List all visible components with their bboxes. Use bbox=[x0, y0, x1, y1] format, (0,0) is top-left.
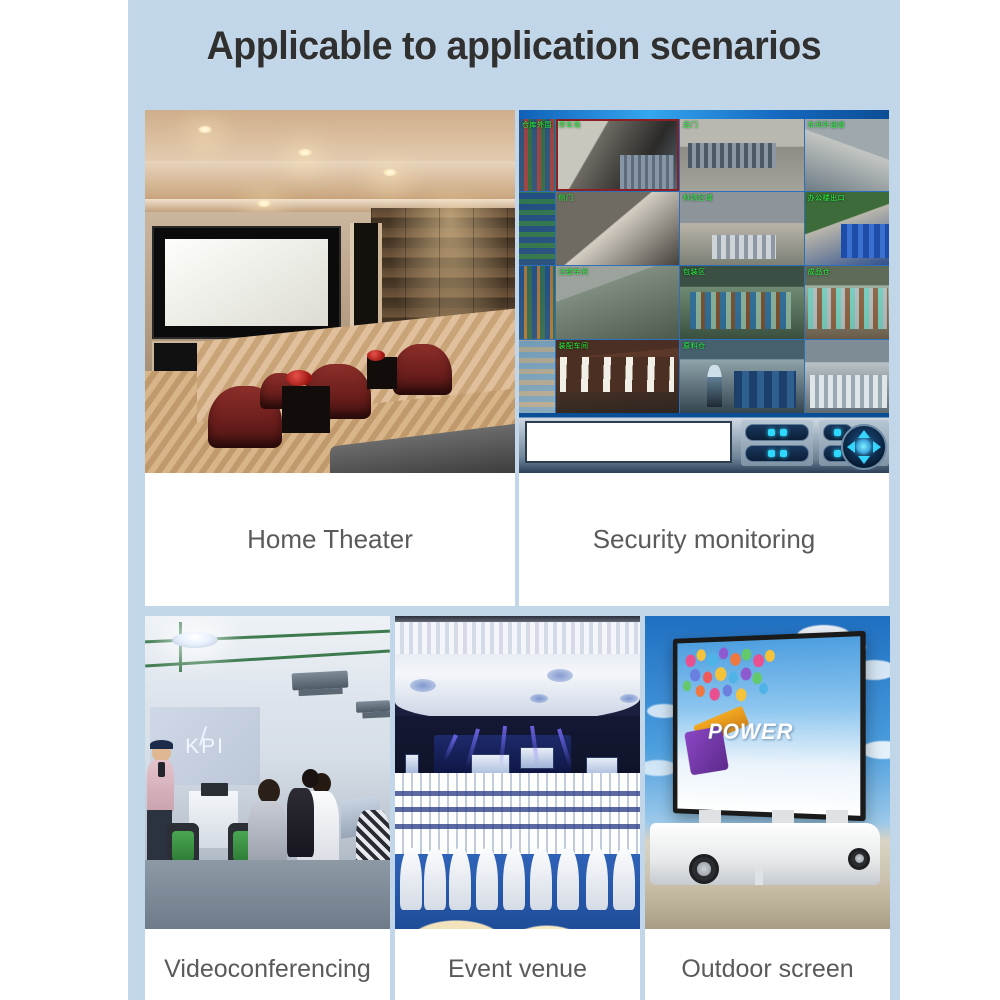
dpad-ok-button[interactable] bbox=[856, 439, 871, 454]
cctv-cell-label: 办公楼出口 bbox=[808, 193, 846, 203]
cctv-cell-label: 车间外通道 bbox=[808, 120, 846, 130]
cctv-cell[interactable] bbox=[805, 340, 889, 413]
dvr-lock-button[interactable] bbox=[745, 445, 809, 462]
cctv-cell[interactable]: 后门 bbox=[680, 119, 804, 192]
cctv-cell[interactable] bbox=[519, 340, 555, 413]
cctv-cell[interactable] bbox=[519, 192, 555, 265]
cctv-cell[interactable]: 办公楼出口 bbox=[805, 192, 889, 265]
trailer-body bbox=[650, 823, 880, 886]
ceiling-projector-icon bbox=[292, 671, 349, 691]
videoconferencing-caption: Videoconferencing bbox=[145, 929, 390, 1000]
slide-text: KPI bbox=[185, 735, 225, 759]
scenario-row-1: Home Theater 仓库外围 停车场 bbox=[145, 110, 890, 606]
event-venue-image bbox=[395, 616, 640, 929]
scenario-card-outdoor-screen[interactable]: POWER Outdoor screen bbox=[645, 616, 890, 1000]
scenario-row-2: KPI bbox=[145, 616, 890, 1000]
outdoor-screen-caption: Outdoor screen bbox=[645, 929, 890, 1000]
screen-text: POWER bbox=[708, 719, 793, 745]
scenario-card-home-theater[interactable]: Home Theater bbox=[145, 110, 515, 606]
cctv-cell[interactable] bbox=[519, 266, 555, 339]
scenario-card-event-venue[interactable]: Event venue bbox=[395, 616, 640, 1000]
cctv-cell-label: 原料仓 bbox=[683, 341, 706, 351]
cctv-cell-label: 注塑车间 bbox=[559, 267, 589, 277]
cctv-cell-label: 料场区域 bbox=[683, 193, 713, 203]
cctv-cell-label: 装配车间 bbox=[559, 341, 589, 351]
cctv-cell-label: 侧门 bbox=[559, 193, 574, 203]
cctv-cell-label: 包装区 bbox=[683, 267, 706, 277]
security-monitoring-image: 仓库外围 停车场 后门 车间外通道 bbox=[519, 110, 889, 473]
home-theater-caption: Home Theater bbox=[145, 473, 515, 606]
dpad-left-icon[interactable] bbox=[847, 441, 855, 453]
trailer-wheel bbox=[689, 854, 719, 884]
page-title: Applicable to application scenarios bbox=[207, 24, 822, 69]
cctv-cell[interactable]: 料场区域 bbox=[680, 192, 804, 265]
scenario-card-videoconferencing[interactable]: KPI bbox=[145, 616, 390, 1000]
event-venue-caption: Event venue bbox=[395, 929, 640, 1000]
cctv-cell-label: 停车场 bbox=[559, 120, 582, 130]
cctv-cell[interactable]: 装配车间 bbox=[556, 340, 680, 413]
scenario-card-security-monitoring[interactable]: 仓库外围 停车场 后门 车间外通道 bbox=[519, 110, 889, 606]
cctv-cell-label: 成品仓 bbox=[808, 267, 831, 277]
home-theater-image bbox=[145, 110, 515, 473]
ceiling-projector-icon-2 bbox=[355, 700, 390, 713]
cctv-cell-label: 后门 bbox=[683, 120, 698, 130]
dpad-up-icon[interactable] bbox=[858, 430, 870, 438]
header: Applicable to application scenarios bbox=[128, 0, 900, 92]
cctv-cell[interactable]: 仓库外围 bbox=[519, 119, 555, 192]
cctv-cell-label: 仓库外围 bbox=[522, 120, 552, 130]
videoconferencing-image: KPI bbox=[145, 616, 390, 929]
dpad-down-icon[interactable] bbox=[858, 456, 870, 464]
dvr-button-pad-left bbox=[741, 420, 813, 466]
cctv-cell[interactable]: 停车场 bbox=[556, 119, 680, 192]
led-billboard: POWER bbox=[673, 631, 866, 821]
dvr-dpad-joystick[interactable] bbox=[841, 424, 887, 470]
cctv-camera-grid: 仓库外围 停车场 后门 车间外通道 bbox=[519, 119, 889, 413]
dvr-display-panel bbox=[525, 421, 732, 463]
cctv-cell[interactable]: 车间外通道 bbox=[805, 119, 889, 192]
cctv-cell[interactable]: 成品仓 bbox=[805, 266, 889, 339]
dvr-playback-button[interactable] bbox=[745, 424, 809, 441]
cctv-cell[interactable]: 原料仓 bbox=[680, 340, 804, 413]
cctv-cell[interactable]: 包装区 bbox=[680, 266, 804, 339]
microphone-icon bbox=[158, 762, 164, 778]
dvr-control-bar bbox=[519, 413, 889, 473]
page-root: Applicable to application scenarios bbox=[0, 0, 1000, 1000]
security-monitoring-caption: Security monitoring bbox=[519, 473, 889, 606]
cctv-cell[interactable]: 侧门 bbox=[556, 192, 680, 265]
trailer-wheel bbox=[848, 848, 870, 870]
dpad-right-icon[interactable] bbox=[873, 441, 881, 453]
dvr-button-pad-right bbox=[819, 420, 889, 466]
outdoor-screen-image: POWER bbox=[645, 616, 890, 929]
cctv-cell[interactable]: 注塑车间 bbox=[556, 266, 680, 339]
